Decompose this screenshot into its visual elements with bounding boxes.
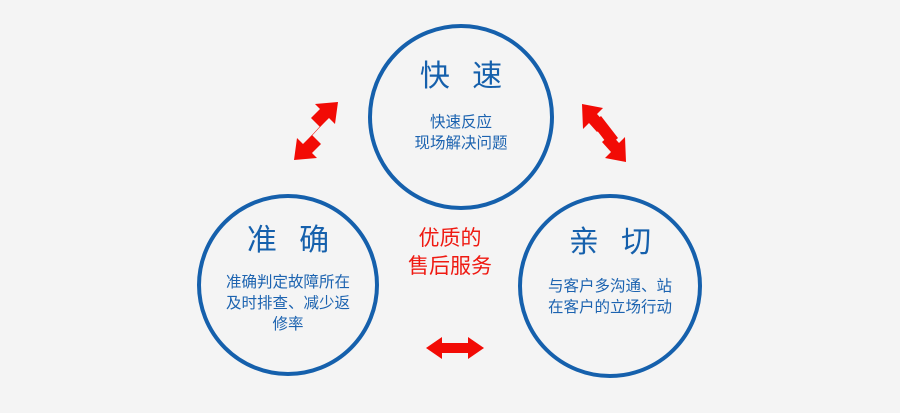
node-description-line: 快速反应 — [414, 112, 507, 133]
node-description-accurate: 准确判定故障所在 及时排查、减少返 修率 — [226, 272, 350, 335]
double-arrow-diagonal-down-right-icon — [578, 100, 630, 166]
node-description-line: 及时排查、减少返 — [226, 293, 350, 314]
node-description-line: 修率 — [226, 314, 350, 335]
node-description-line: 现场解决问题 — [414, 133, 507, 154]
node-title-fast: 快 速 — [413, 60, 509, 94]
diagram-node-friendly: 亲 切 与客户多沟通、站 在客户的立场行动 — [518, 194, 702, 378]
center-label-line: 售后服务 — [398, 253, 502, 281]
diagram-node-accurate: 准 确 准确判定故障所在 及时排查、减少返 修率 — [197, 194, 379, 376]
center-label-line: 优质的 — [398, 225, 502, 253]
node-description-line: 在客户的立场行动 — [548, 297, 672, 318]
double-arrow-diagonal-up-right-icon — [288, 96, 344, 166]
node-title-friendly: 亲 切 — [562, 226, 658, 260]
node-description-line: 与客户多沟通、站 — [548, 276, 672, 297]
service-quality-diagram: 快 速 快速反应 现场解决问题 准 确 准确判定故障所在 及时排查、减少返 修率… — [0, 0, 900, 413]
double-arrow-horizontal-icon — [424, 332, 486, 364]
diagram-center-label: 优质的 售后服务 — [398, 225, 502, 281]
node-title-accurate: 准 确 — [240, 224, 336, 258]
node-description-fast: 快速反应 现场解决问题 — [414, 112, 507, 154]
diagram-node-fast: 快 速 快速反应 现场解决问题 — [368, 24, 554, 210]
node-description-friendly: 与客户多沟通、站 在客户的立场行动 — [548, 276, 672, 318]
node-description-line: 准确判定故障所在 — [226, 272, 350, 293]
